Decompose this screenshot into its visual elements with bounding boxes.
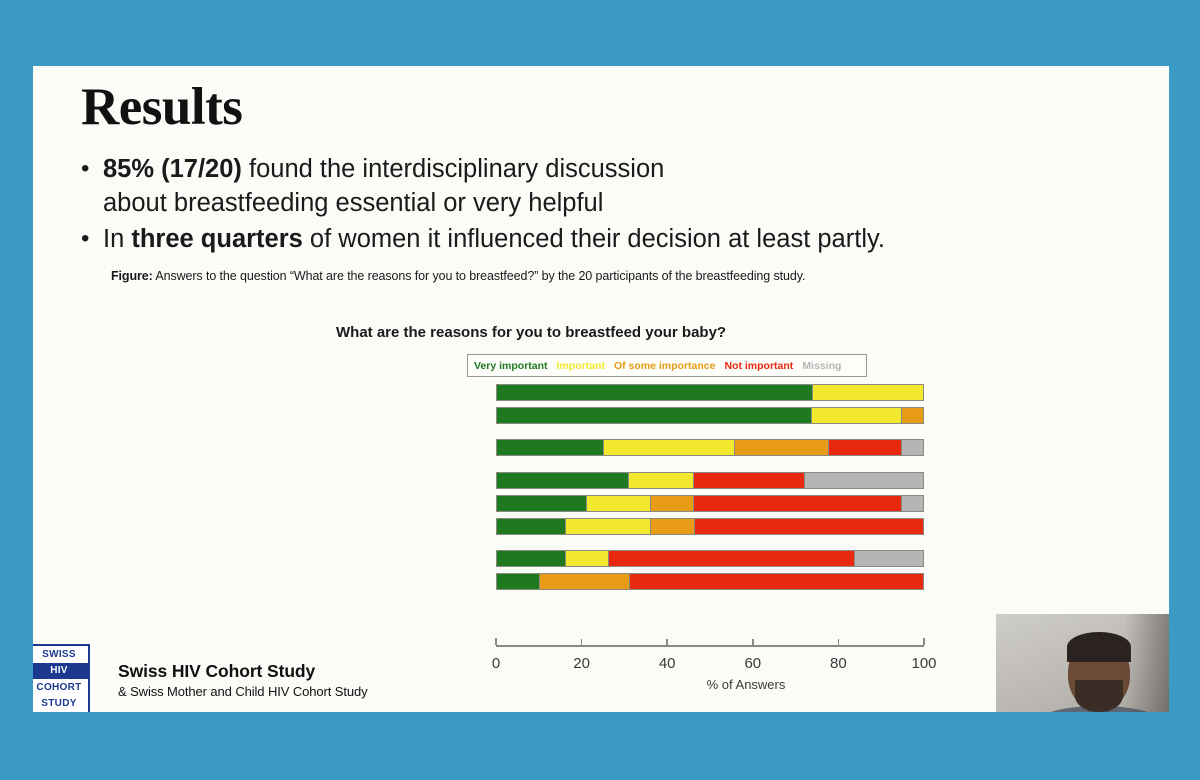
bar-row — [496, 384, 924, 401]
bar-segment-missing — [804, 473, 923, 488]
bullet-dot-icon: • — [81, 152, 103, 186]
bar-segment-missing — [901, 496, 923, 511]
bar-segment-not-important — [608, 551, 854, 566]
x-tick-60 — [752, 639, 754, 645]
bar-segment-of-some-importance — [734, 440, 828, 455]
chart-plot-area: Closer contact to my babyBest option for… — [463, 384, 893, 569]
bar-row — [496, 439, 924, 456]
swiss-hiv-cohort-logo: SWISSHIVCOHORTSTUDY — [33, 644, 90, 712]
x-tick-100 — [923, 638, 925, 645]
bullet-2-bold: three quarters — [131, 225, 302, 253]
bullet-1-line2: about breastfeeding essential or very he… — [103, 189, 603, 217]
bar-segment-important — [565, 519, 651, 534]
logo-line-0: SWISS — [33, 646, 88, 663]
bar-segment-important — [565, 551, 608, 566]
x-tick-label-40: 40 — [659, 655, 676, 672]
bar-segment-very-important — [497, 496, 586, 511]
bullet-2-pre: In — [103, 225, 131, 253]
bullet-dot-icon: • — [81, 222, 103, 256]
bar-segment-very-important — [497, 473, 628, 488]
figure-caption-label: Figure: — [111, 269, 153, 283]
bar-segment-important — [812, 385, 924, 400]
bar-row — [496, 550, 924, 567]
bullet-2-rest: of women it influenced their decision at… — [303, 225, 885, 253]
x-tick-label-80: 80 — [830, 655, 847, 672]
logo-line-3: STUDY — [33, 696, 88, 713]
legend-item-4: Missing — [802, 360, 841, 372]
bar-segment-not-important — [694, 519, 923, 534]
list-item: • 85% (17/20) found the interdisciplinar… — [81, 152, 1111, 220]
slide-canvas: Results • 85% (17/20) found the interdis… — [33, 66, 1169, 712]
bar-segment-of-some-importance — [539, 574, 629, 589]
x-tick-label-100: 100 — [911, 655, 936, 672]
logo-line-1: HIV — [33, 663, 88, 680]
bar-segment-very-important — [497, 440, 603, 455]
bar-segment-important — [603, 440, 735, 455]
x-axis: 020406080100 — [496, 645, 924, 646]
bar-segment-of-some-importance — [650, 519, 693, 534]
list-item: • In three quarters of women it influenc… — [81, 222, 1111, 256]
bar-segment-important — [811, 408, 901, 423]
bar-segment-very-important — [497, 551, 565, 566]
legend-item-1: Important — [557, 360, 605, 372]
x-tick-40 — [666, 639, 668, 645]
bar-segment-very-important — [497, 574, 539, 589]
bar-segment-important — [628, 473, 692, 488]
legend-item-0: Very important — [474, 360, 548, 372]
footer-title: Swiss HIV Cohort Study — [118, 661, 368, 682]
webcam-person-beard — [1075, 680, 1123, 712]
bar-segment-of-some-importance — [650, 496, 693, 511]
x-tick-label-0: 0 — [492, 655, 500, 672]
webcam-shadow — [1124, 614, 1169, 712]
bar-segment-missing — [854, 551, 923, 566]
bullet-list: • 85% (17/20) found the interdisciplinar… — [81, 152, 1111, 258]
bar-row — [496, 472, 924, 489]
logo-line-2: COHORT — [33, 679, 88, 696]
footer: Swiss HIV Cohort Study & Swiss Mother an… — [118, 661, 368, 699]
bar-segment-missing — [901, 440, 923, 455]
bar-row — [496, 495, 924, 512]
bar-segment-not-important — [629, 574, 923, 589]
bar-segment-very-important — [497, 408, 811, 423]
bar-segment-of-some-importance — [901, 408, 923, 423]
legend-item-2: Of some importance — [614, 360, 716, 372]
bar-segment-important — [586, 496, 650, 511]
bar-segment-very-important — [497, 385, 812, 400]
bullet-1-bold: 85% (17/20) — [103, 155, 242, 183]
bar-row — [496, 518, 924, 535]
chart-title: What are the reasons for you to breastfe… — [336, 324, 726, 341]
figure-caption: Figure: Answers to the question “What ar… — [111, 269, 805, 283]
webcam-person-hair — [1067, 632, 1131, 662]
x-tick-label-20: 20 — [573, 655, 590, 672]
bar-row — [496, 407, 924, 424]
page-title: Results — [81, 77, 242, 137]
x-tick-0 — [495, 638, 497, 645]
bar-segment-not-important — [828, 440, 901, 455]
footer-subtitle: & Swiss Mother and Child HIV Cohort Stud… — [118, 684, 368, 699]
chart-legend: Very importantImportantOf some importanc… — [467, 354, 867, 377]
bar-segment-not-important — [693, 496, 901, 511]
bullet-1-rest: found the interdisciplinary discussion — [242, 155, 664, 183]
x-tick-label-60: 60 — [744, 655, 761, 672]
x-tick-20 — [581, 639, 583, 645]
bar-row — [496, 573, 924, 590]
x-axis-spine — [496, 645, 924, 647]
x-tick-80 — [838, 639, 840, 645]
webcam-video-tile[interactable] — [996, 614, 1169, 712]
legend-item-3: Not important — [724, 360, 793, 372]
bar-segment-very-important — [497, 519, 565, 534]
bar-segment-not-important — [693, 473, 804, 488]
figure-caption-text: Answers to the question “What are the re… — [153, 269, 806, 283]
